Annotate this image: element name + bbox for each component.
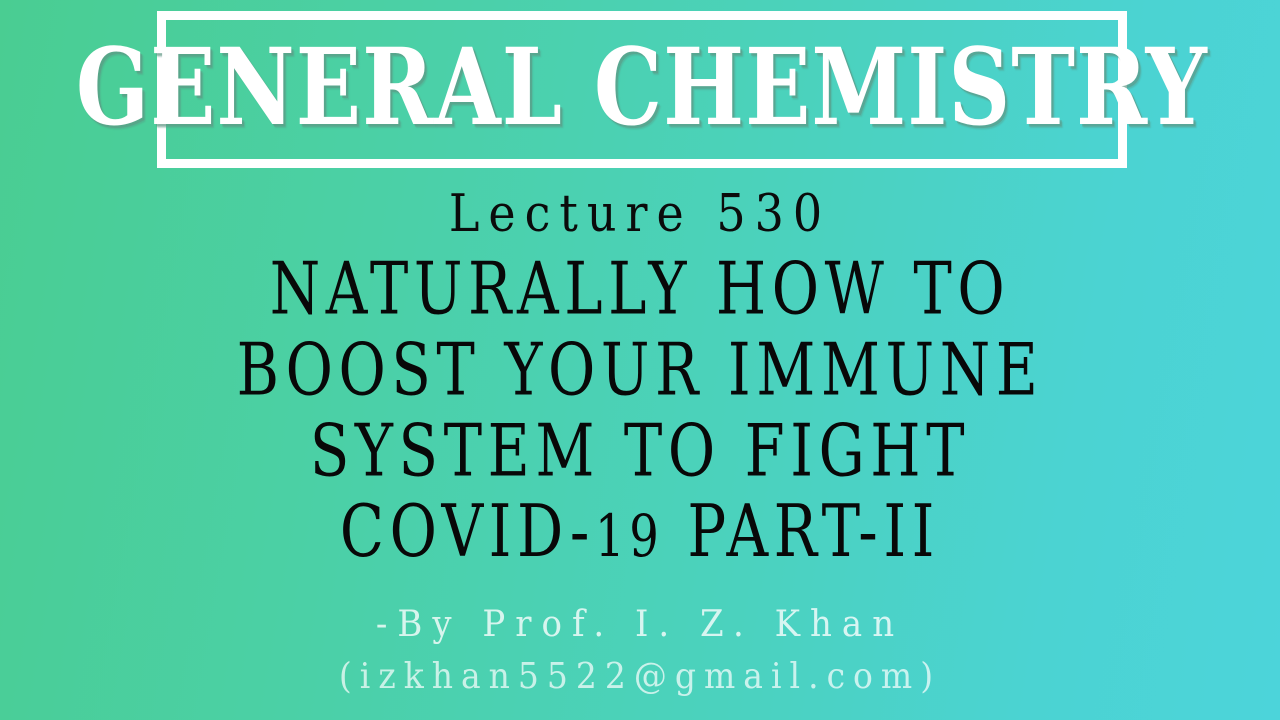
byline: -By Prof. I. Z. Khan (izkhan5522@gmail.c… [0, 598, 1280, 702]
heading-line-4-suffix: PART-II [663, 489, 940, 574]
course-title: GENERAL CHEMISTRY [76, 34, 1208, 145]
course-title-frame: GENERAL CHEMISTRY [157, 11, 1127, 168]
heading-line-1: NATURALLY HOW TO [45, 242, 1235, 336]
heading-line-4-number: 19 [595, 503, 663, 570]
byline-email: (izkhan5522@gmail.com) [0, 648, 1280, 704]
lecture-title-slide: GENERAL CHEMISTRY Lecture 530 NATURALLY … [0, 0, 1280, 720]
lecture-heading: NATURALLY HOW TO BOOST YOUR IMMUNE SYSTE… [0, 248, 1280, 577]
byline-author: -By Prof. I. Z. Khan [0, 596, 1280, 652]
heading-line-2: BOOST YOUR IMMUNE [45, 323, 1235, 417]
heading-line-4: COVID-19 PART-II [45, 484, 1235, 584]
heading-line-4-prefix: COVID- [340, 489, 595, 574]
lecture-number-label: Lecture 530 [0, 183, 1280, 243]
